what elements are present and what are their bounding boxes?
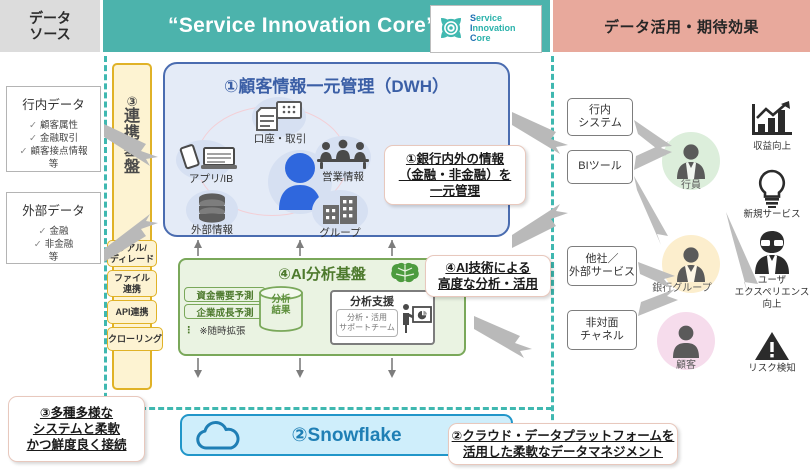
dwh-node-appli: アプリ/IB bbox=[168, 142, 254, 186]
system-line2: チャネル bbox=[580, 330, 624, 342]
scope-boundary-right bbox=[551, 56, 554, 456]
callout-line3: 一元管理 bbox=[430, 183, 480, 199]
chip-line1: API連携 bbox=[115, 307, 148, 317]
check-icon: ✓ bbox=[39, 226, 47, 237]
ai-result-label: 分析 結果 bbox=[258, 294, 304, 316]
list-item-label: 顧客属性 bbox=[40, 120, 78, 131]
integration-char-1: 連 bbox=[114, 109, 150, 126]
persona-label-customer: 顧客 bbox=[647, 356, 725, 371]
callout-line1: ④AI技術による bbox=[445, 260, 530, 276]
mobile-laptop-icon bbox=[180, 142, 242, 172]
meeting-people-icon bbox=[312, 140, 374, 170]
chip-line2: 連携 bbox=[123, 284, 141, 294]
outcome-label: 新規サービス bbox=[733, 209, 810, 221]
dwh-node-eigyo: 営業情報 bbox=[300, 140, 386, 184]
team-line2: サポートチーム bbox=[339, 323, 395, 332]
warning-icon bbox=[754, 330, 790, 362]
logo-rest-2: nnovation bbox=[473, 23, 516, 33]
chip-line2: ディレード bbox=[110, 254, 154, 264]
ai-expand-label: ※随時拡張 bbox=[200, 323, 246, 337]
callout-three: ③多種多様な システムと柔軟 かつ鮮度良く接続 bbox=[8, 396, 145, 462]
group-person-icon bbox=[674, 246, 708, 282]
list-item: 等 bbox=[7, 251, 100, 264]
callout-line2: 高度な分析・活用 bbox=[438, 276, 538, 292]
system-line1: BIツール bbox=[578, 160, 621, 173]
list-item: ✓金融取引 bbox=[7, 132, 100, 145]
system-box-nonface-channel[interactable]: 非対面チャネル bbox=[567, 310, 637, 350]
callout-two: ②クラウド・データプラットフォームを 活用した柔軟なデータマネジメント bbox=[448, 423, 678, 465]
dwh-title: ①顧客情報一元管理（DWH） bbox=[163, 72, 510, 97]
callout-four: ④AI技術による 高度な分析・活用 bbox=[425, 255, 551, 297]
callout-line2: （金融・非金融）を bbox=[399, 167, 512, 183]
list-item-label: 非金融 bbox=[45, 239, 74, 250]
dwh-node-gaibu: 外部情報 bbox=[172, 193, 252, 237]
system-line2: 外部サービス bbox=[569, 266, 635, 278]
source-box-external: 外部データ ✓金融 ✓非金融 等 bbox=[6, 192, 101, 264]
source-external-title: 外部データ bbox=[7, 200, 100, 219]
outcome-label: 収益向上 bbox=[733, 141, 810, 153]
check-icon: ✓ bbox=[29, 120, 37, 131]
source-column-header: データ ソース bbox=[0, 0, 100, 52]
banker-icon bbox=[674, 143, 708, 179]
integration-char-4: 盤 bbox=[114, 160, 150, 177]
callout-line2: システムと柔軟 bbox=[33, 421, 120, 437]
ai-panel-title: ④AI分析基盤 bbox=[178, 263, 466, 284]
integration-chip-api[interactable]: API連携 bbox=[107, 300, 157, 324]
ai-support-team: 分析・活用サポートチーム bbox=[336, 309, 398, 337]
system-line1: 非対面 bbox=[585, 317, 618, 329]
outcome-line1: ユーザ bbox=[758, 275, 786, 286]
integration-chip-realtime[interactable]: リアル/ディレード bbox=[107, 240, 157, 267]
outcome-user-experience: ユーザ エクスペリエンス 向上 bbox=[733, 228, 810, 311]
logo-line3: Core bbox=[470, 34, 516, 44]
outcome-risk-detection: リスク検知 bbox=[733, 330, 810, 375]
dwh-node-label: 外部情報 bbox=[172, 222, 252, 237]
dwh-node-group: グループ bbox=[300, 194, 380, 240]
system-box-kounai[interactable]: 行内システム bbox=[567, 98, 633, 136]
list-item-label: 等 bbox=[49, 252, 59, 263]
check-icon: ✓ bbox=[29, 133, 37, 144]
list-item: 等 bbox=[7, 158, 100, 171]
source-box-internal: 行内データ ✓顧客属性 ✓金融取引 ✓顧客接点情報 等 bbox=[6, 86, 101, 172]
source-header-line1: データ bbox=[29, 10, 71, 26]
lightbulb-icon bbox=[754, 168, 790, 208]
ai-result-line1: 分析 bbox=[258, 294, 304, 305]
list-item-label: 金融取引 bbox=[40, 133, 78, 144]
vertical-dots-icon: ⋮ bbox=[184, 325, 194, 336]
source-header-line2: ソース bbox=[29, 26, 70, 42]
outcome-label: ユーザ エクスペリエンス 向上 bbox=[733, 275, 810, 311]
system-box-external-service[interactable]: 他社／外部サービス bbox=[567, 246, 637, 286]
list-item-label: 等 bbox=[49, 159, 59, 170]
integration-number: ③ bbox=[114, 95, 150, 109]
integration-platform-label: ③ 連 携 基 盤 bbox=[114, 95, 150, 177]
core-title: “Service Innovation Core” bbox=[168, 14, 437, 38]
chip-line1: ファイル bbox=[114, 273, 150, 283]
ai-result-line2: 結果 bbox=[258, 305, 304, 316]
source-internal-list: ✓顧客属性 ✓金融取引 ✓顧客接点情報 等 bbox=[7, 119, 100, 171]
system-box-bi[interactable]: BIツール bbox=[567, 150, 633, 184]
source-external-list: ✓金融 ✓非金融 等 bbox=[7, 225, 100, 264]
callout-line1: ③多種多様な bbox=[40, 405, 113, 421]
logo-rest-3: ore bbox=[477, 33, 491, 43]
team-line1: 分析・活用 bbox=[347, 313, 387, 322]
document-display-icon bbox=[257, 100, 303, 132]
presenter-icon bbox=[400, 302, 432, 334]
integration-char-3: 基 bbox=[114, 143, 150, 160]
integration-chip-crawling[interactable]: クローリング bbox=[107, 327, 163, 351]
outcome-revenue: 収益向上 bbox=[733, 100, 810, 153]
buildings-icon bbox=[317, 194, 363, 226]
ai-model-box-1[interactable]: 資金需要予測 bbox=[184, 287, 266, 302]
user-experience-icon bbox=[749, 228, 795, 274]
check-icon: ✓ bbox=[34, 239, 42, 250]
ai-model-label: 資金需要予測 bbox=[196, 288, 253, 302]
core-column-header: “Service Innovation Core” Service Innova… bbox=[103, 0, 550, 52]
logo-rest-1: ervice bbox=[476, 13, 502, 23]
list-item: ✓非金融 bbox=[7, 238, 100, 251]
chip-line1: クローリング bbox=[108, 334, 162, 344]
persona-label-banker: 行員 bbox=[652, 176, 730, 191]
customer-icon bbox=[670, 324, 702, 358]
effect-column-header: データ活用・期待効果 bbox=[553, 0, 810, 52]
dwh-node-label: 営業情報 bbox=[300, 169, 386, 184]
integration-char-2: 携 bbox=[114, 126, 150, 143]
list-item-label: 金融 bbox=[49, 226, 68, 237]
dwh-node-label: グループ bbox=[300, 225, 380, 240]
persona-label-group: 銀行グループ bbox=[643, 279, 721, 294]
scope-boundary-left bbox=[104, 56, 107, 408]
callout-line1: ①銀行内外の情報 bbox=[406, 151, 504, 167]
chip-line1: リアル/ bbox=[117, 243, 146, 253]
list-item: ✓金融 bbox=[7, 225, 100, 238]
list-item: ✓顧客属性 bbox=[7, 119, 100, 132]
list-item-label: 顧客接点情報 bbox=[30, 146, 87, 157]
brain-icon bbox=[390, 262, 420, 284]
ai-model-box-2[interactable]: 企業成長予測 bbox=[184, 304, 266, 319]
outcome-line2: エクスペリエンス bbox=[735, 287, 810, 298]
callout-line3: かつ鮮度良く接続 bbox=[26, 437, 126, 453]
outcome-new-service: 新規サービス bbox=[733, 168, 810, 221]
system-line2: システム bbox=[578, 117, 622, 129]
bar-chart-up-icon bbox=[749, 100, 795, 140]
ai-model-label: 企業成長予測 bbox=[196, 305, 253, 319]
database-icon bbox=[195, 193, 229, 223]
list-item: ✓顧客接点情報 bbox=[7, 145, 100, 158]
source-internal-title: 行内データ bbox=[7, 94, 100, 113]
callout-one: ①銀行内外の情報 （金融・非金融）を 一元管理 bbox=[384, 145, 526, 205]
integration-chip-file[interactable]: ファイル連携 bbox=[107, 270, 157, 297]
outcome-label: リスク検知 bbox=[733, 363, 810, 375]
system-line1: 行内 bbox=[589, 104, 611, 116]
sic-flower-icon bbox=[434, 12, 468, 46]
outcome-line3: 向上 bbox=[762, 299, 781, 310]
callout-line2: 活用した柔軟なデータマネジメント bbox=[463, 444, 663, 460]
system-line1: 他社／ bbox=[586, 253, 619, 265]
dwh-node-label: アプリ/IB bbox=[168, 171, 254, 186]
callout-line1: ②クラウド・データプラットフォームを bbox=[452, 428, 675, 444]
scope-boundary-bottom bbox=[104, 407, 552, 410]
service-innovation-core-logo: Service Innovation Core bbox=[430, 5, 542, 53]
check-icon: ✓ bbox=[20, 146, 28, 157]
